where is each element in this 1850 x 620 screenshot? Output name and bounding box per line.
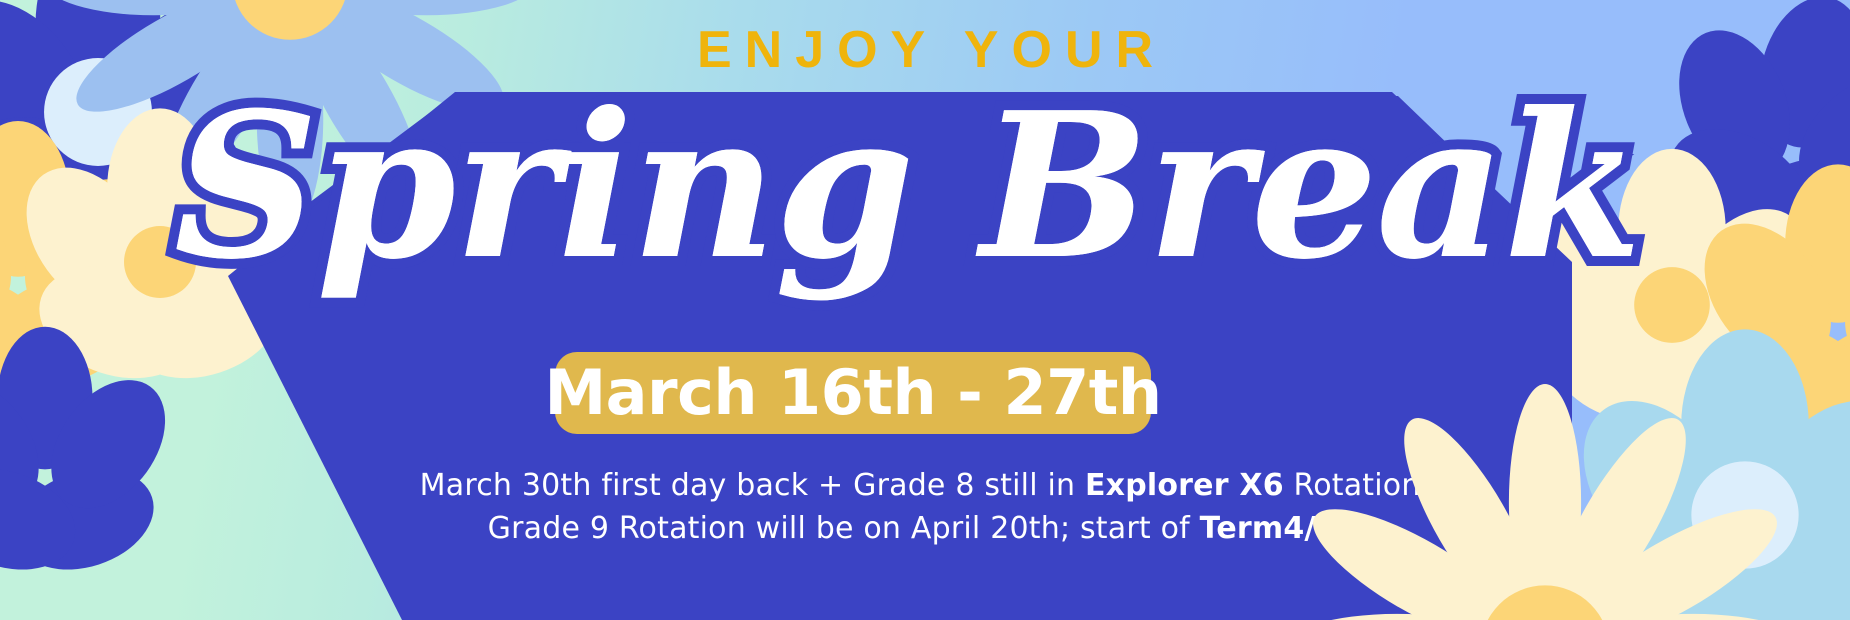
spring-break-banner: ENJOY YOUR Spring Break Spring Break Mar… [0,0,1850,620]
foreground-flowers [0,0,1850,620]
